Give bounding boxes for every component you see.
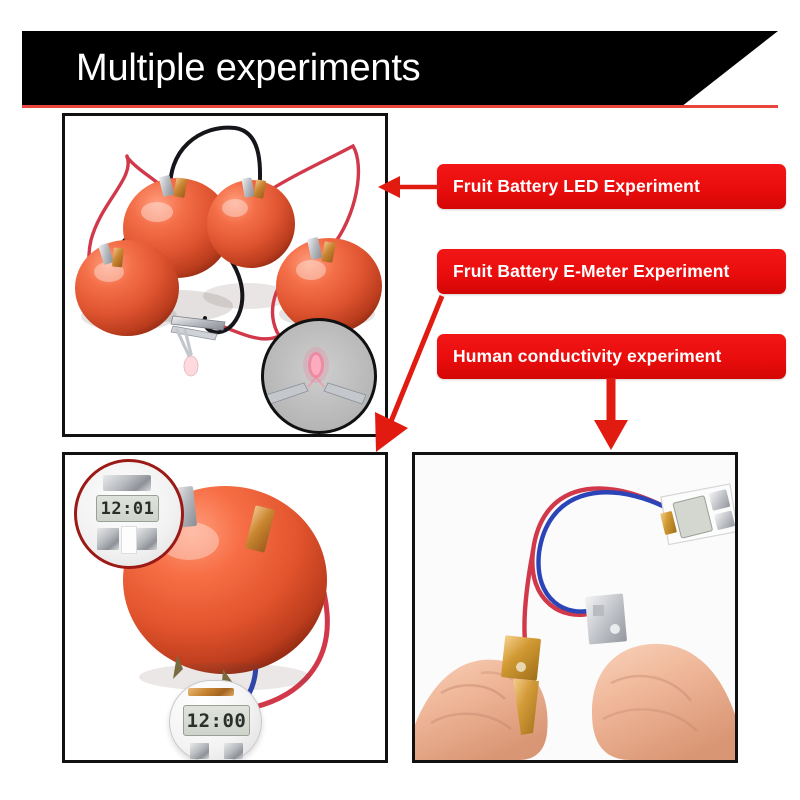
panel-human-conductivity [412, 452, 738, 763]
callout-fruit-battery-emeter[interactable]: Fruit Battery E-Meter Experiment [437, 249, 786, 294]
clock-zinc-terminal-right [224, 743, 243, 759]
inset-clock-lcd: 12:01 [96, 495, 159, 522]
photo-human-conductivity [415, 455, 735, 760]
digital-clock-module: 12:00 [169, 680, 262, 762]
human-photo-graphic [415, 455, 735, 760]
arrow-down-icon [594, 378, 628, 450]
inset-zinc-plate [103, 475, 151, 491]
inset-led-glow [261, 318, 377, 434]
clock-copper-terminal [188, 688, 234, 696]
slide-canvas: Multiple experiments [0, 0, 800, 800]
header-divider-rule [22, 105, 778, 108]
panel-fruit-battery-led [62, 113, 388, 437]
inset-clip-center [121, 526, 137, 554]
callout-fruit-battery-led[interactable]: Fruit Battery LED Experiment [437, 164, 786, 209]
page-title: Multiple experiments [76, 43, 420, 93]
inset-led-graphic [264, 321, 368, 425]
inset-terminal-right [135, 528, 157, 550]
callout-human-conductivity[interactable]: Human conductivity experiment [437, 334, 786, 379]
inset-terminal-left [97, 528, 119, 550]
clock-zinc-terminal-left [190, 743, 209, 759]
inset-clock-closeup: 12:01 [74, 459, 184, 569]
panel-fruit-battery-emeter: 12:00 12:01 [62, 452, 388, 763]
photo-fruit-battery-led [65, 116, 385, 434]
alligator-clip-led [171, 316, 225, 376]
photo-fruit-battery-emeter: 12:00 12:01 [65, 455, 385, 760]
clock-lcd-display: 12:00 [183, 705, 250, 736]
